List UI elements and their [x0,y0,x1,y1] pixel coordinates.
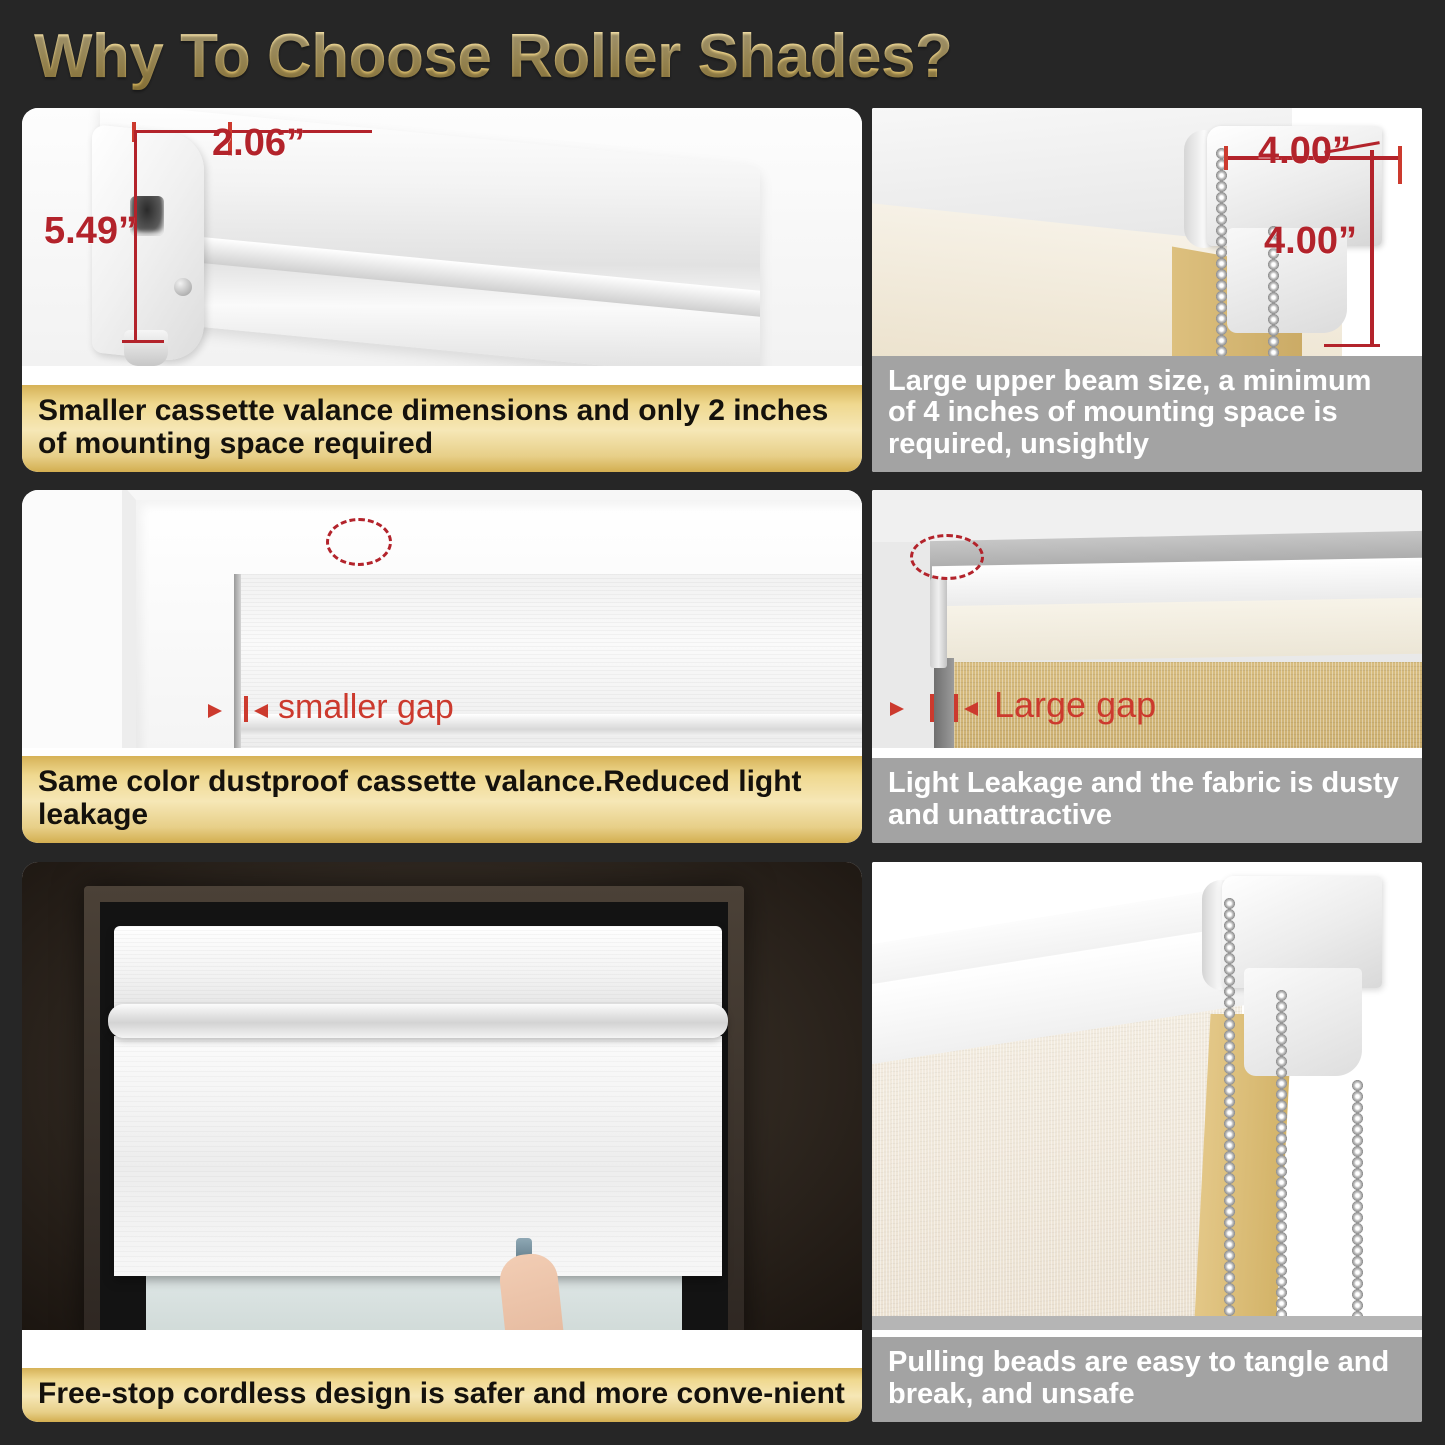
bead-chain-left [1224,898,1235,1328]
panel-row3-right-caption: Pulling beads are easy to tangle and bre… [872,1337,1422,1422]
panel-row1-left-caption: Smaller cassette valance dimensions and … [22,385,862,472]
gap-arrow-left-icon [964,702,978,716]
smaller-gap-label: smaller gap [278,688,454,727]
panel-row3-left: Free-stop cordless design is safer and m… [22,862,862,1422]
valance-bottom-clip [124,330,168,366]
gap-arrow-left-icon [254,704,268,718]
panel-row1-left-image: 2.06” 5.49” [22,108,862,366]
large-gap-label: Large gap [994,684,1156,726]
gap-arrow-right-icon [208,704,222,718]
beam-height-tick-bottom [1324,344,1380,347]
panel-row3-right: Pulling beads are easy to tangle and bre… [872,862,1422,1422]
highlight-circle-icon [910,534,984,580]
beam-face [934,598,1422,663]
beam-height-dimension-line [1370,150,1374,346]
beam-width-tick-left [1224,146,1228,170]
panel-row2-right-image: Large gap [872,490,1422,748]
cassette-valance [114,926,722,1014]
panel-row2-left-image: smaller gap [22,490,862,748]
valance-front-rail [108,1004,728,1038]
gap-shadow-bar [934,658,954,748]
bead-chain-left [1216,148,1227,366]
beam-height-label: 4.00” [1264,220,1357,263]
screw-icon [174,278,192,296]
bracket-clip [930,578,947,668]
bead-chain-right [1352,1080,1363,1328]
bracket-lower [1244,968,1362,1076]
gap-marker-left [930,694,934,722]
gap-marker [244,696,248,722]
gap-marker-right [954,694,958,722]
window-frame [84,886,744,1330]
panel-row1-right-caption: Large upper beam size, a minimum of 4 in… [872,356,1422,472]
panel-row3-left-caption: Free-stop cordless design is safer and m… [22,1368,862,1422]
width-dimension-label: 2.06” [212,122,305,165]
bead-chain-middle [1276,990,1287,1328]
panel-row1-left: 2.06” 5.49” Smaller cassette valance dim… [22,108,862,472]
height-dimension-label: 5.49” [44,210,137,253]
highlight-circle-icon [326,518,392,566]
photo-base-strip [872,1316,1422,1330]
panel-row2-left-caption: Same color dustproof cassette valance.Re… [22,756,862,843]
panel-row3-left-image [22,862,862,1330]
gap-arrow-right-icon [890,702,904,716]
panel-row1-right: 4.00” 4.00” Large upper beam size, a min… [872,108,1422,472]
height-dimension-tick-bottom [122,340,164,343]
shade-side-edge [234,574,241,748]
panel-row2-left: smaller gap Same color dustproof cassett… [22,490,862,843]
beam-width-tick-right [1398,146,1402,184]
page-title: Why To Choose Roller Shades? [34,22,1034,92]
infographic-page: Why To Choose Roller Shades? 2.06” 5.49”… [0,0,1445,1445]
panel-row1-right-image: 4.00” 4.00” [872,108,1422,366]
panel-row3-right-image [872,862,1422,1330]
roller-shade-fabric [114,1036,722,1276]
panel-row2-right: Large gap Light Leakage and the fabric i… [872,490,1422,843]
panel-row2-right-caption: Light Leakage and the fabric is dusty an… [872,758,1422,843]
